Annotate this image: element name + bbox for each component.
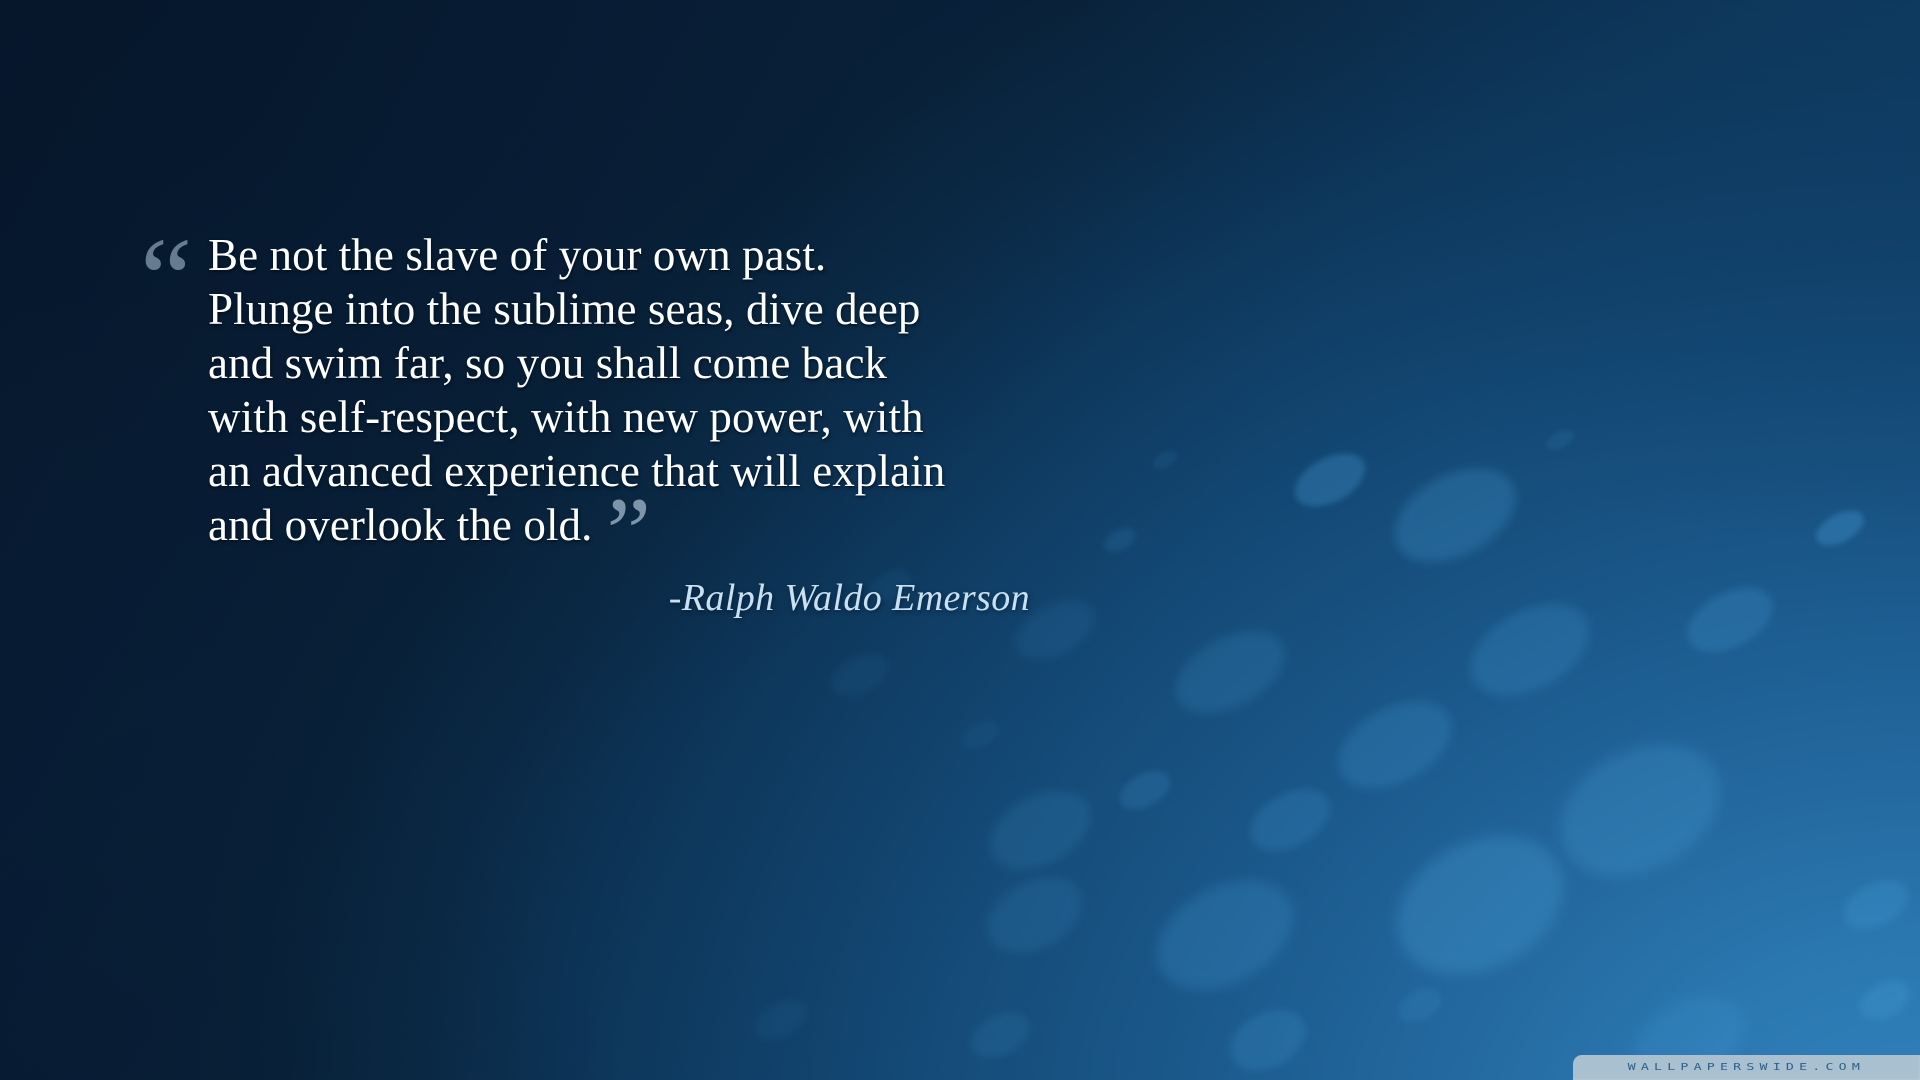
- opening-quote-mark-icon: “: [140, 220, 188, 338]
- bokeh-ellipse: [1677, 575, 1784, 666]
- bokeh-ellipse: [1543, 426, 1577, 454]
- quote-line: and overlook the old.”: [208, 498, 1140, 552]
- bokeh-ellipse: [1114, 763, 1177, 817]
- wallpaper-canvas: “ Be not the slave of your own past. Plu…: [0, 0, 1920, 1080]
- bokeh-ellipse: [1393, 981, 1448, 1029]
- bokeh-ellipse: [1853, 972, 1917, 1027]
- quote-line: Plunge into the sublime seas, dive deep: [208, 282, 1140, 336]
- watermark-badge: WALLPAPERSWIDE.COM: [1573, 1055, 1920, 1080]
- bokeh-ellipse: [1379, 449, 1531, 581]
- bokeh-ellipse: [974, 862, 1093, 967]
- bokeh-ellipse: [1836, 870, 1916, 939]
- watermark-label: WALLPAPERSWIDE.COM: [1628, 1062, 1865, 1074]
- bokeh-ellipse: [824, 645, 896, 706]
- quote-text: Be not the slave of your own past. Plung…: [208, 228, 1140, 552]
- quote-block: “ Be not the slave of your own past. Plu…: [140, 228, 1140, 552]
- bokeh-ellipse: [957, 715, 1004, 755]
- bokeh-ellipse: [1455, 586, 1605, 715]
- quote-line: Be not the slave of your own past.: [208, 228, 1140, 282]
- quote-line: with self-respect, with new power, with: [208, 390, 1140, 444]
- quote-line: and swim far, so you shall come back: [208, 336, 1140, 390]
- bokeh-ellipse: [1220, 997, 1316, 1080]
- quote-line-label: and overlook the old.: [208, 500, 593, 550]
- bokeh-ellipse: [1286, 443, 1374, 518]
- bokeh-ellipse: [1162, 614, 1298, 729]
- quote-attribution: -Ralph Waldo Emerson: [140, 576, 1030, 622]
- bokeh-ellipse: [1537, 718, 1742, 902]
- bokeh-ellipse: [976, 775, 1103, 886]
- bokeh-ellipse: [1324, 684, 1466, 807]
- bokeh-ellipse: [1373, 808, 1588, 1002]
- bokeh-ellipse: [747, 992, 812, 1048]
- bokeh-ellipse: [963, 1003, 1037, 1067]
- bokeh-ellipse: [1240, 777, 1340, 863]
- bokeh-ellipse: [1150, 448, 1180, 473]
- bokeh-ellipse: [1810, 503, 1869, 552]
- quote-line: an advanced experience that will explain: [208, 444, 1140, 498]
- bokeh-ellipse: [1138, 858, 1312, 1011]
